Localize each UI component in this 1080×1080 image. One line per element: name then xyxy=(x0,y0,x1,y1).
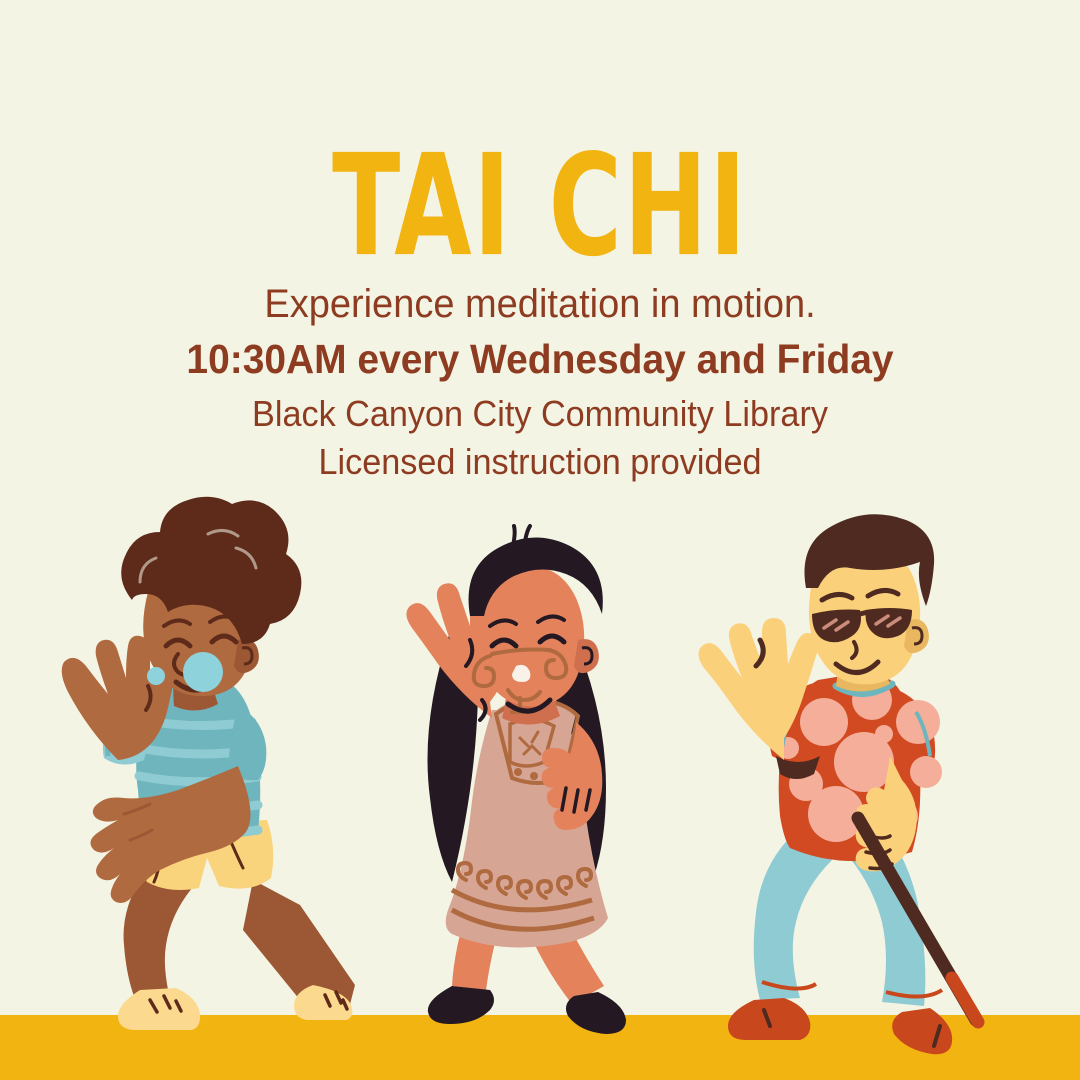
instruction-note-text: Licensed instruction provided xyxy=(27,432,1053,480)
poster-text-block: TAI CHI Experience meditation in motion.… xyxy=(0,0,1080,480)
tagline-text: Experience meditation in motion. xyxy=(27,240,1053,324)
page-title: TAI CHI xyxy=(97,0,983,276)
figure-left-child xyxy=(62,497,355,1030)
venue-text: Black Canyon City Community Library xyxy=(27,380,1053,432)
figure-right-man xyxy=(698,514,978,1054)
schedule-text: 10:30AM every Wednesday and Friday xyxy=(27,324,1053,380)
figure-middle-woman xyxy=(406,526,626,1034)
tai-chi-poster: TAI CHI Experience meditation in motion.… xyxy=(0,0,1080,1080)
